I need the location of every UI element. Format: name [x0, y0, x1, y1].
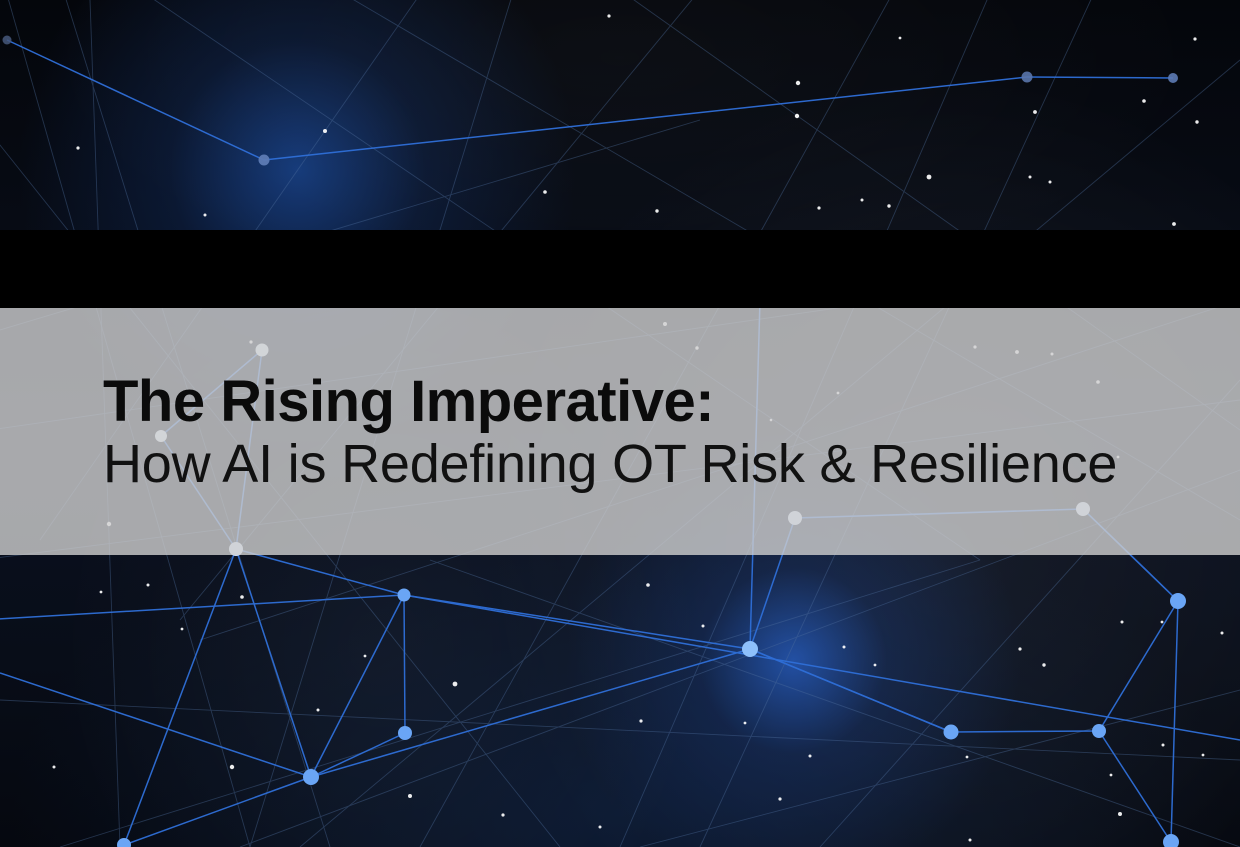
slide-headline: The Rising Imperative:: [103, 373, 1240, 431]
slide-subheadline: How AI is Redefining OT Risk & Resilienc…: [103, 437, 1240, 491]
black-divider-bar: [0, 230, 1240, 308]
presentation-slide: The Rising Imperative: How AI is Redefin…: [0, 0, 1240, 847]
title-overlay-band: The Rising Imperative: How AI is Redefin…: [0, 308, 1240, 555]
